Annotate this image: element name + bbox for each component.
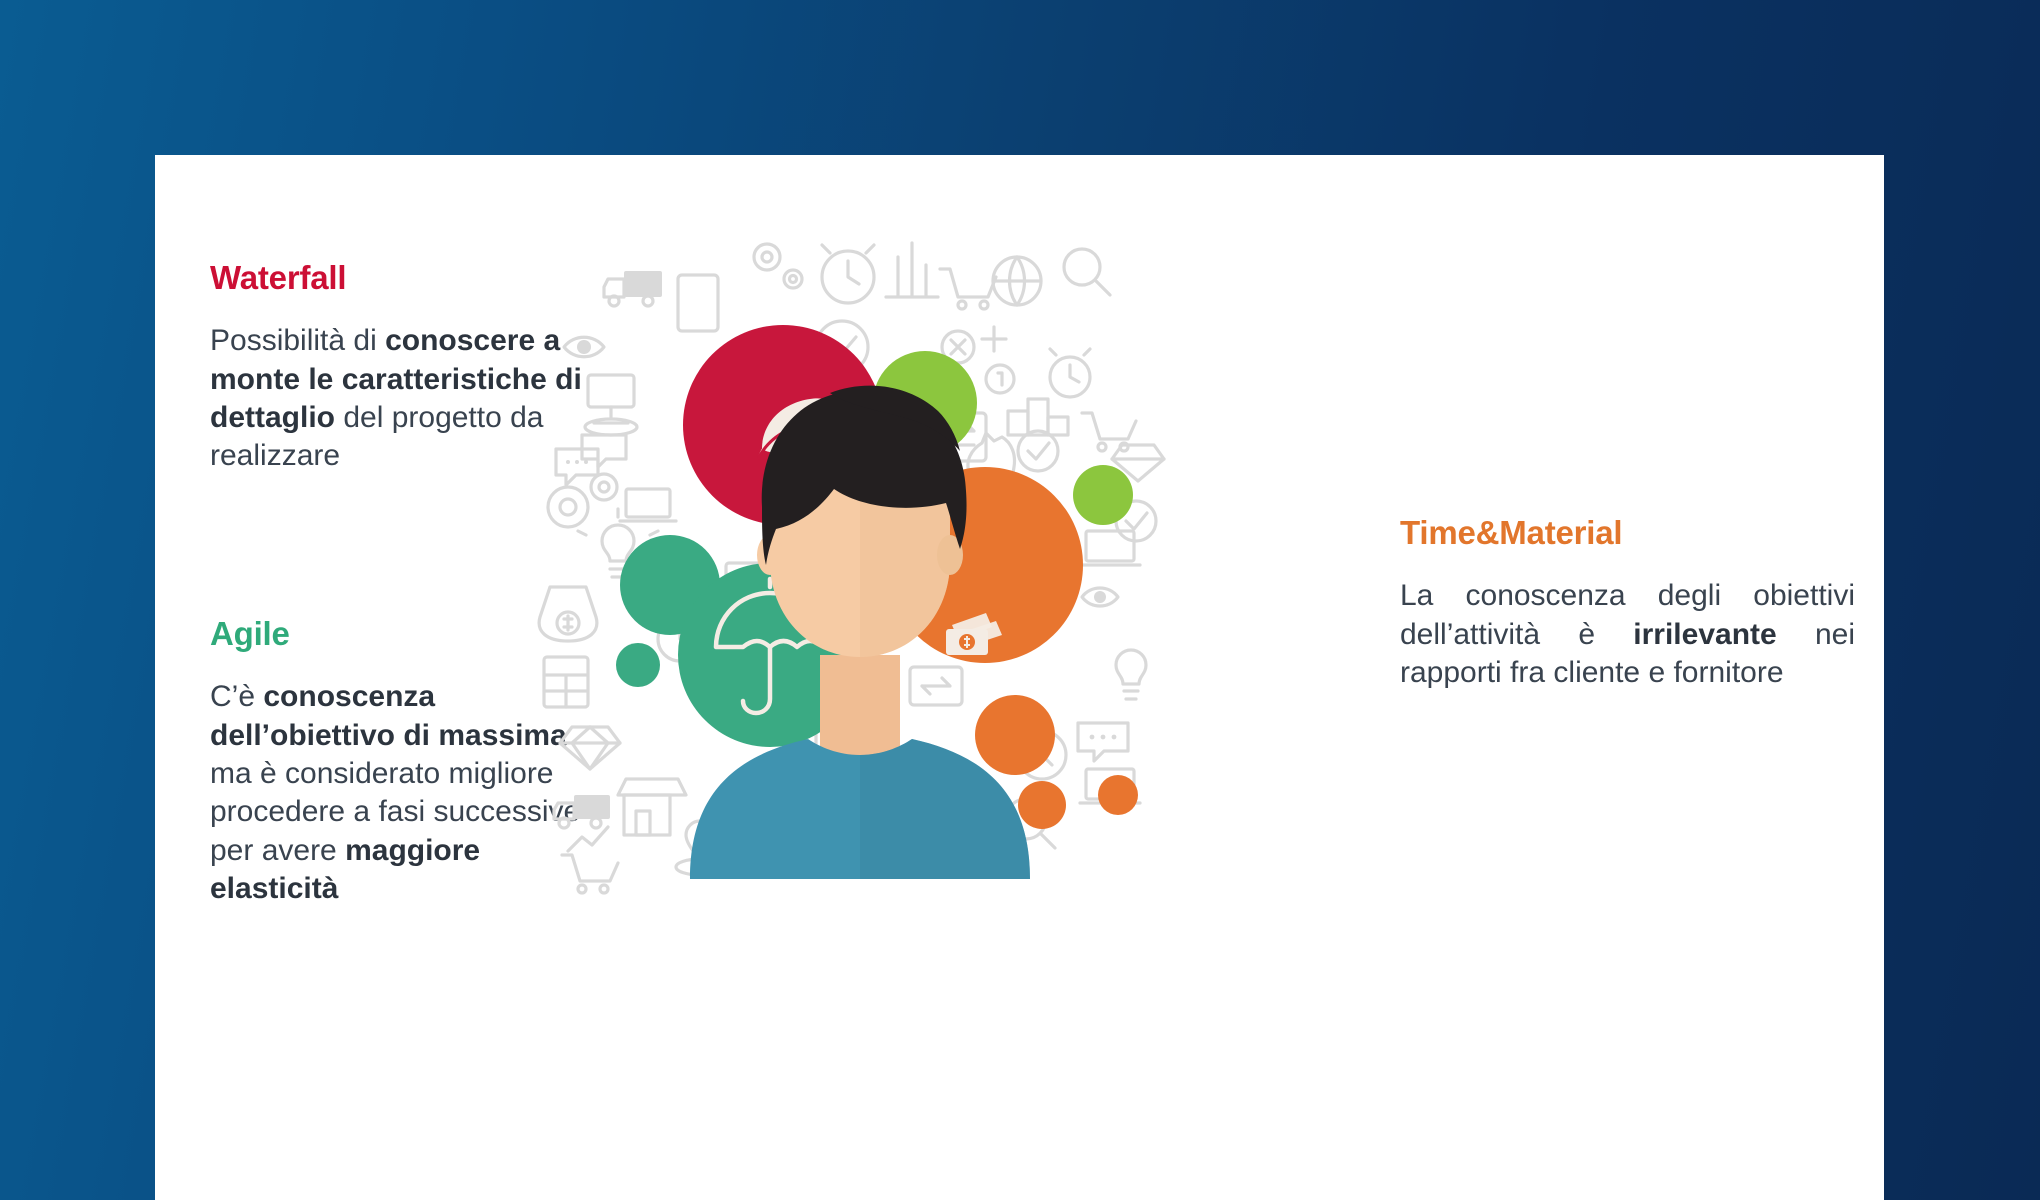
alarm-clock-icon [822, 245, 874, 303]
orange-mini-bubble [1018, 781, 1066, 829]
store-icon [618, 779, 686, 835]
laptop-icon [620, 489, 676, 521]
gear-icon [754, 244, 802, 288]
laptop-icon [1080, 531, 1140, 565]
orange-small-bubble [975, 695, 1055, 775]
right-column: Time&Material La conoscenza degli obiett… [1400, 515, 1855, 692]
eye-icon [564, 337, 604, 357]
arrow-box-icon [910, 667, 962, 705]
number-badge-icon [986, 365, 1014, 393]
calculator-icon [544, 657, 588, 707]
tablet-icon [678, 275, 718, 331]
plus-icon [982, 327, 1006, 351]
orange-tiny-bubble [1098, 775, 1138, 815]
illustration-person-with-bubbles [530, 235, 1170, 895]
growth-cart-icon [562, 827, 618, 893]
globe-icon [993, 257, 1041, 305]
block-time-material: Time&Material La conoscenza degli obiett… [1400, 515, 1855, 692]
money-bag-icon [539, 587, 597, 641]
check-circle-icon [1018, 431, 1058, 471]
lightgreen-mini-bubble [1073, 465, 1133, 525]
magnifier-icon [1064, 249, 1110, 295]
truck-icon [604, 271, 662, 306]
lightbulb-icon [1116, 650, 1146, 699]
slide-root: Waterfall Possibilità di conoscere a mon… [0, 0, 2040, 1200]
teal-mini-bubble [616, 643, 660, 687]
chat-bubble-icon [556, 435, 626, 485]
clock-icon [1050, 349, 1090, 397]
shopping-cart-icon [940, 269, 996, 309]
time-material-title: Time&Material [1400, 515, 1855, 551]
eye-icon [1082, 588, 1118, 606]
bar-chart-icon [886, 243, 938, 297]
monitor-icon [585, 375, 637, 435]
diamond-icon [560, 727, 620, 769]
content-card: Waterfall Possibilità di conoscere a mon… [155, 155, 1884, 1200]
chat-bubble-icon [1078, 723, 1128, 761]
time-material-body: La conoscenza degli obiettivi dell’attiv… [1400, 577, 1855, 692]
gear-icon [548, 474, 617, 527]
truck-icon [554, 795, 610, 828]
neck [820, 655, 900, 765]
